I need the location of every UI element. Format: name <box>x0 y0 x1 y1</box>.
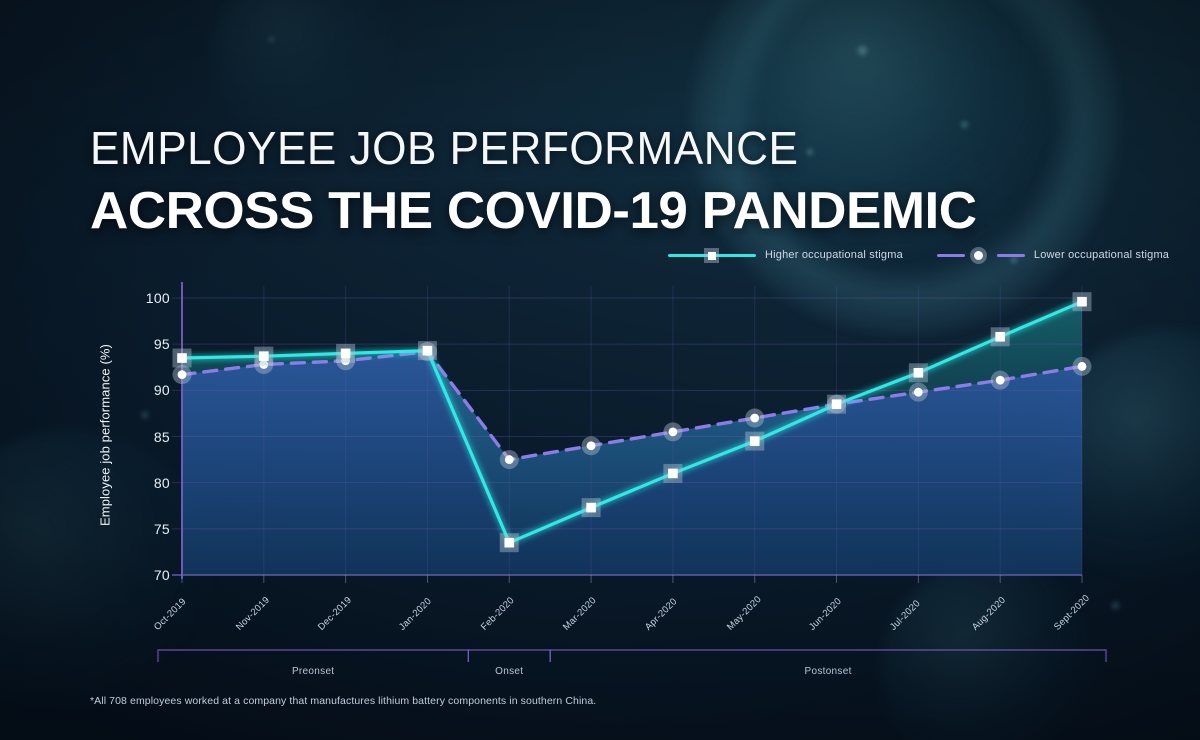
phase-label: Preonset <box>292 666 334 677</box>
y-axis-tick-label: 70 <box>128 567 170 583</box>
chart-text-overlay: PreonsetOnsetPostonset707580859095100Oct… <box>0 0 1200 740</box>
y-axis-tick-label: 100 <box>128 290 170 306</box>
x-axis-tick-label: Jul-2020 <box>888 598 923 633</box>
x-axis-tick-label: May-2020 <box>725 594 764 633</box>
y-axis-tick-label: 90 <box>128 382 170 398</box>
y-axis-tick-label: 95 <box>128 336 170 352</box>
x-axis-tick-label: Apr-2020 <box>643 596 680 633</box>
phase-label: Onset <box>495 666 523 677</box>
y-axis-tick-label: 85 <box>128 429 170 445</box>
x-axis-tick-label: Nov-2019 <box>234 595 272 633</box>
y-axis-tick-label: 80 <box>128 475 170 491</box>
x-axis-tick-label: Feb-2020 <box>479 595 517 633</box>
x-axis-tick-label: Jun-2020 <box>807 596 844 633</box>
x-axis-tick-label: Sept-2020 <box>1052 593 1092 633</box>
y-axis-tick-label: 75 <box>128 521 170 537</box>
x-axis-tick-label: Aug-2020 <box>970 595 1008 633</box>
x-axis-tick-label: Jan-2020 <box>397 596 434 633</box>
x-axis-tick-label: Oct-2019 <box>152 596 189 633</box>
infographic-canvas: EMPLOYEE JOB PERFORMANCE ACROSS THE COVI… <box>0 0 1200 740</box>
phase-label: Postonset <box>804 666 851 677</box>
x-axis-tick-label: Dec-2019 <box>316 595 354 633</box>
footnote: *All 708 employees worked at a company t… <box>90 695 596 707</box>
x-axis-tick-label: Mar-2020 <box>561 595 599 633</box>
